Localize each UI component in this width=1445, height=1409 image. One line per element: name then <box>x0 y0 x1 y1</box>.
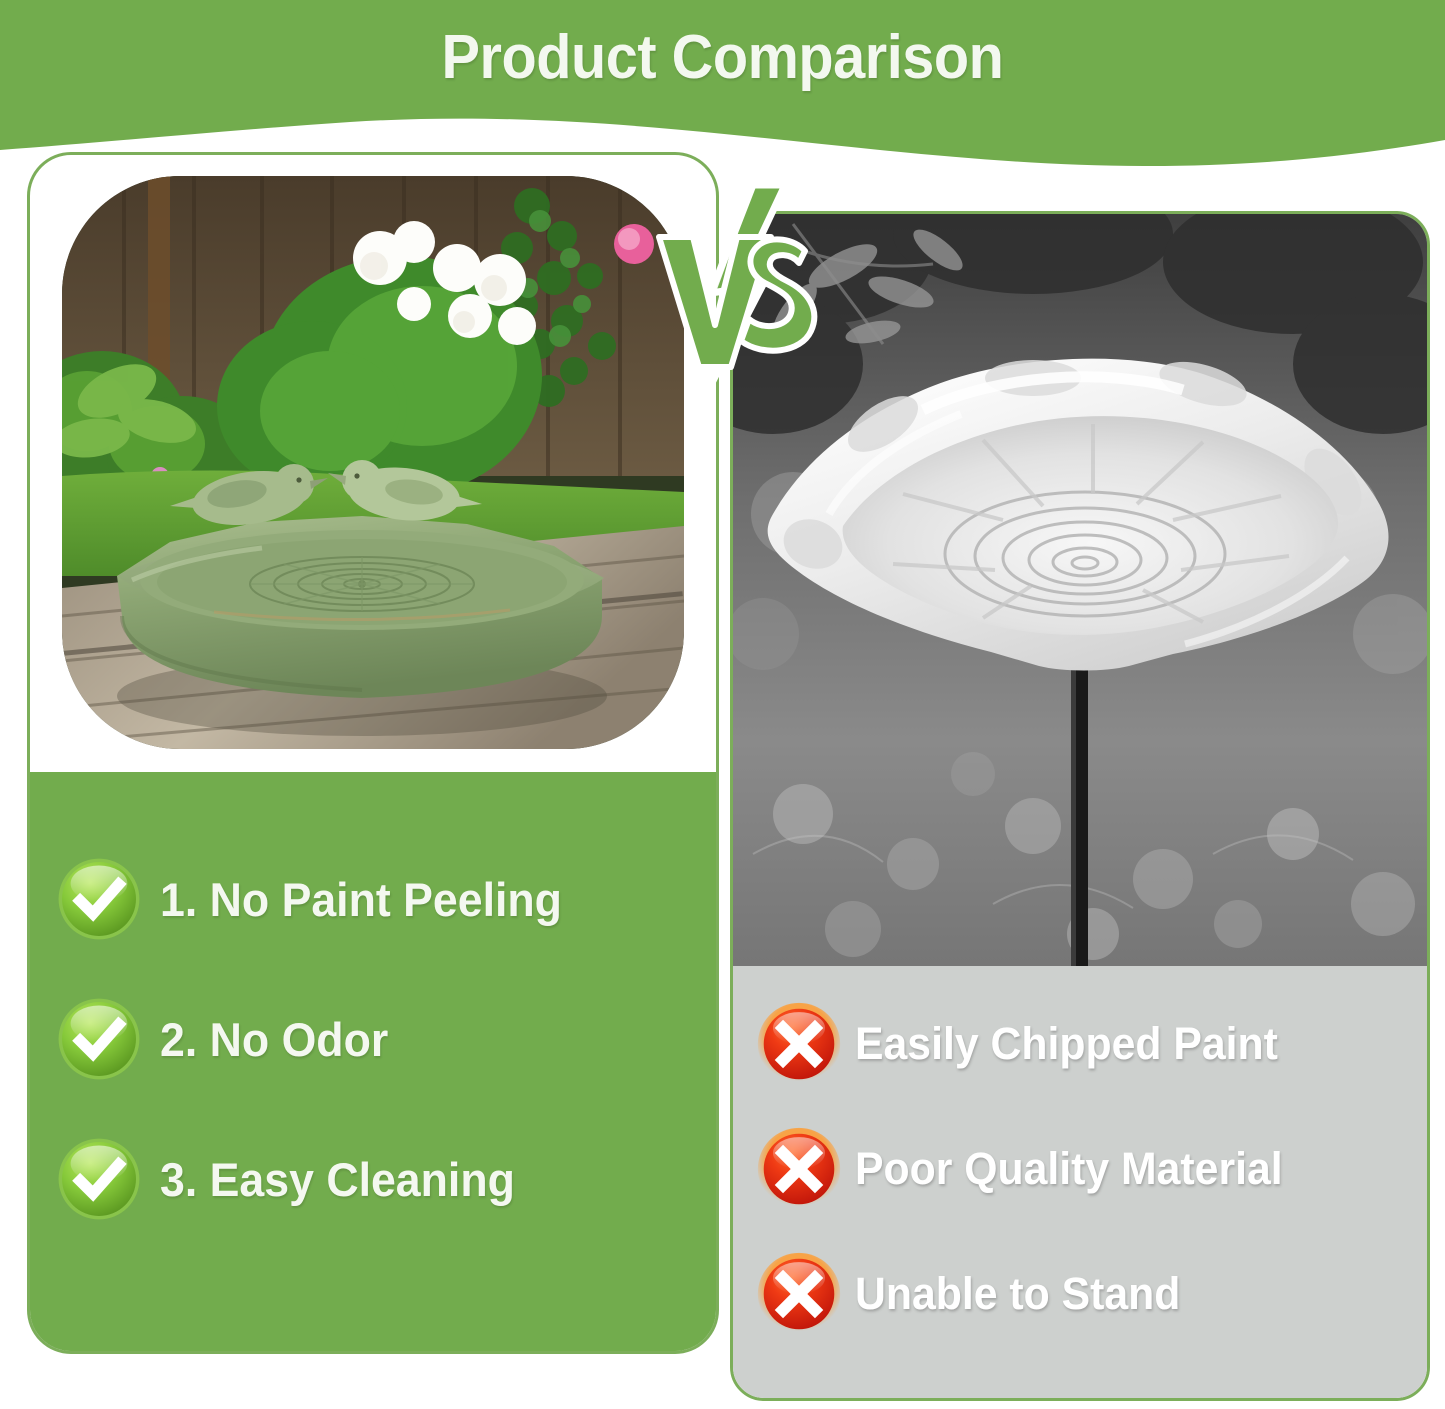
ceramic-birdbath-illustration <box>62 176 684 749</box>
product-comparison-infographic: Product Comparison <box>0 0 1445 1409</box>
left-product-panel: 1. No Paint Peeling 2. No Odor <box>27 152 719 1354</box>
feature-item: 1. No Paint Peeling <box>56 856 716 942</box>
right-product-panel: Easily Chipped Paint Poor Quality Materi… <box>730 211 1430 1401</box>
feature-item: Poor Quality Material <box>757 1127 1427 1211</box>
check-circle-icon <box>56 856 142 942</box>
check-circle-icon <box>56 1136 142 1222</box>
x-circle-icon <box>757 1252 841 1336</box>
feature-label: Poor Quality Material <box>855 1143 1283 1195</box>
feature-label: 2. No Odor <box>160 1012 388 1067</box>
x-circle-icon <box>757 1127 841 1211</box>
page-title: Product Comparison <box>51 22 1395 93</box>
vs-lightning-icon <box>645 185 825 400</box>
glass-birdbath-illustration <box>733 214 1427 966</box>
feature-item: 2. No Odor <box>56 996 716 1082</box>
right-product-photo <box>733 214 1427 966</box>
feature-item: 3. Easy Cleaning <box>56 1136 716 1222</box>
header-banner: Product Comparison <box>0 0 1445 175</box>
x-circle-icon <box>757 1002 841 1086</box>
feature-label: 1. No Paint Peeling <box>160 872 562 927</box>
check-circle-icon <box>56 996 142 1082</box>
left-product-photo <box>62 176 684 749</box>
left-feature-list: 1. No Paint Peeling 2. No Odor <box>30 772 716 1354</box>
right-feature-list: Easily Chipped Paint Poor Quality Materi… <box>733 966 1427 1401</box>
feature-label: Unable to Stand <box>855 1268 1180 1320</box>
feature-item: Unable to Stand <box>757 1252 1427 1336</box>
feature-item: Easily Chipped Paint <box>757 1002 1427 1086</box>
vs-badge <box>645 185 825 400</box>
feature-label: 3. Easy Cleaning <box>160 1152 515 1207</box>
feature-label: Easily Chipped Paint <box>855 1018 1278 1070</box>
